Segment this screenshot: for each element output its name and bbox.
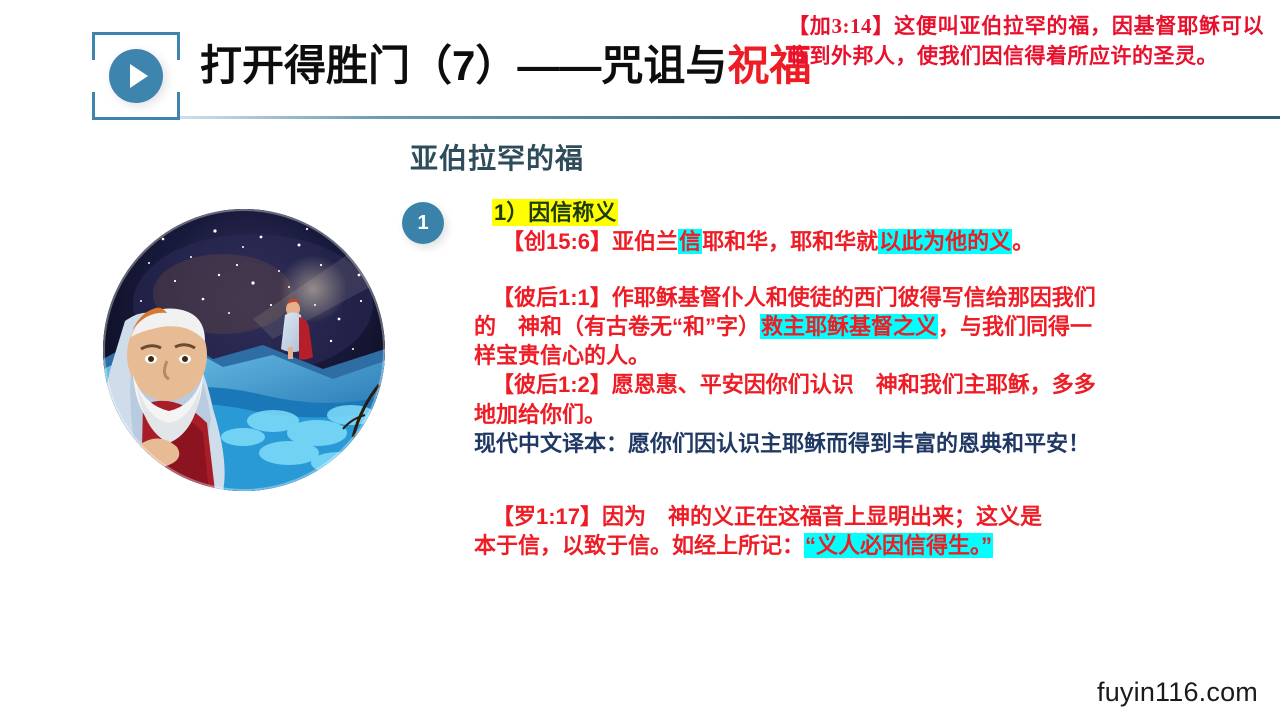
verse-2pet-1-1-line2: 的 神和（有古卷无“和”字）救主耶稣基督之义，与我们同得一	[474, 312, 1164, 341]
site-watermark: fuyin116.com	[1097, 677, 1258, 708]
verse-rom-1-17-line1: 【罗1:17】因为 神的义正在这福音上显明出来；这义是	[474, 502, 1164, 531]
slide-canvas: 打开得胜门（7）——咒诅与祝福 【加3:14】这便叫亚伯拉罕的福，因基督耶稣可以…	[0, 0, 1280, 720]
page-title-main: 打开得胜门（7）——咒诅与	[200, 42, 727, 89]
spacer	[474, 458, 1164, 502]
gen-part-c: 。	[1012, 229, 1034, 254]
pet1-highlight: 救主耶稣基督之义	[760, 314, 938, 339]
content-body: 1）因信称义 【创15:6】亚伯兰信耶和华，耶和华就以此为他的义。 【彼后1:1…	[474, 198, 1164, 561]
pet1-part-a: 的 神和（有古卷无“和”字）	[474, 314, 760, 339]
verse-2pet-1-1-line1: 【彼后1:1】作耶稣基督仆人和使徒的西门彼得写信给那因我们	[474, 283, 1164, 312]
rom-highlight: “义人必因信得生。”	[804, 533, 993, 558]
gen-highlight-2: 以此为他的义	[878, 229, 1012, 254]
spacer	[474, 257, 1164, 283]
point-title-text: 1）因信称义	[492, 199, 618, 226]
rom-part-a: 本于信，以致于信。如经上所记：	[474, 533, 804, 558]
gen-part-b: 耶和华，耶和华就	[702, 229, 878, 254]
verse-2pet-1-2-line1: 【彼后1:2】愿恩惠、平安因你们认识 神和我们主耶稣，多多	[474, 370, 1164, 399]
play-icon[interactable]	[109, 49, 163, 103]
section-heading: 亚伯拉罕的福	[410, 137, 584, 177]
verse-gen-15-6: 【创15:6】亚伯兰信耶和华，耶和华就以此为他的义。	[474, 227, 1164, 256]
point-title-line: 1）因信称义	[474, 198, 1164, 227]
logo-frame	[92, 32, 180, 120]
verse-2pet-1-2-line2: 地加给你们。	[474, 400, 1164, 429]
header-divider	[180, 116, 1280, 119]
top-verse-text: 【加3:14】这便叫亚伯拉罕的福，因基督耶稣可以临到外邦人，使我们因信得着所应许…	[788, 12, 1264, 72]
abraham-stars-image	[103, 209, 385, 491]
modern-chinese-translation: 现代中文译本：愿你们因认识主耶稣而得到丰富的恩典和平安！	[474, 429, 1164, 458]
gen-highlight-1: 信	[678, 229, 702, 254]
point-number-badge: 1	[402, 202, 444, 244]
verse-rom-1-17-line2: 本于信，以致于信。如经上所记：“义人必因信得生。”	[474, 531, 1164, 560]
pet1-part-b: ，与我们同得一	[938, 314, 1092, 339]
gen-part-a: 【创15:6】亚伯兰	[502, 229, 678, 254]
verse-2pet-1-1-line3: 样宝贵信心的人。	[474, 341, 1164, 370]
page-title: 打开得胜门（7）——咒诅与祝福	[200, 43, 811, 89]
